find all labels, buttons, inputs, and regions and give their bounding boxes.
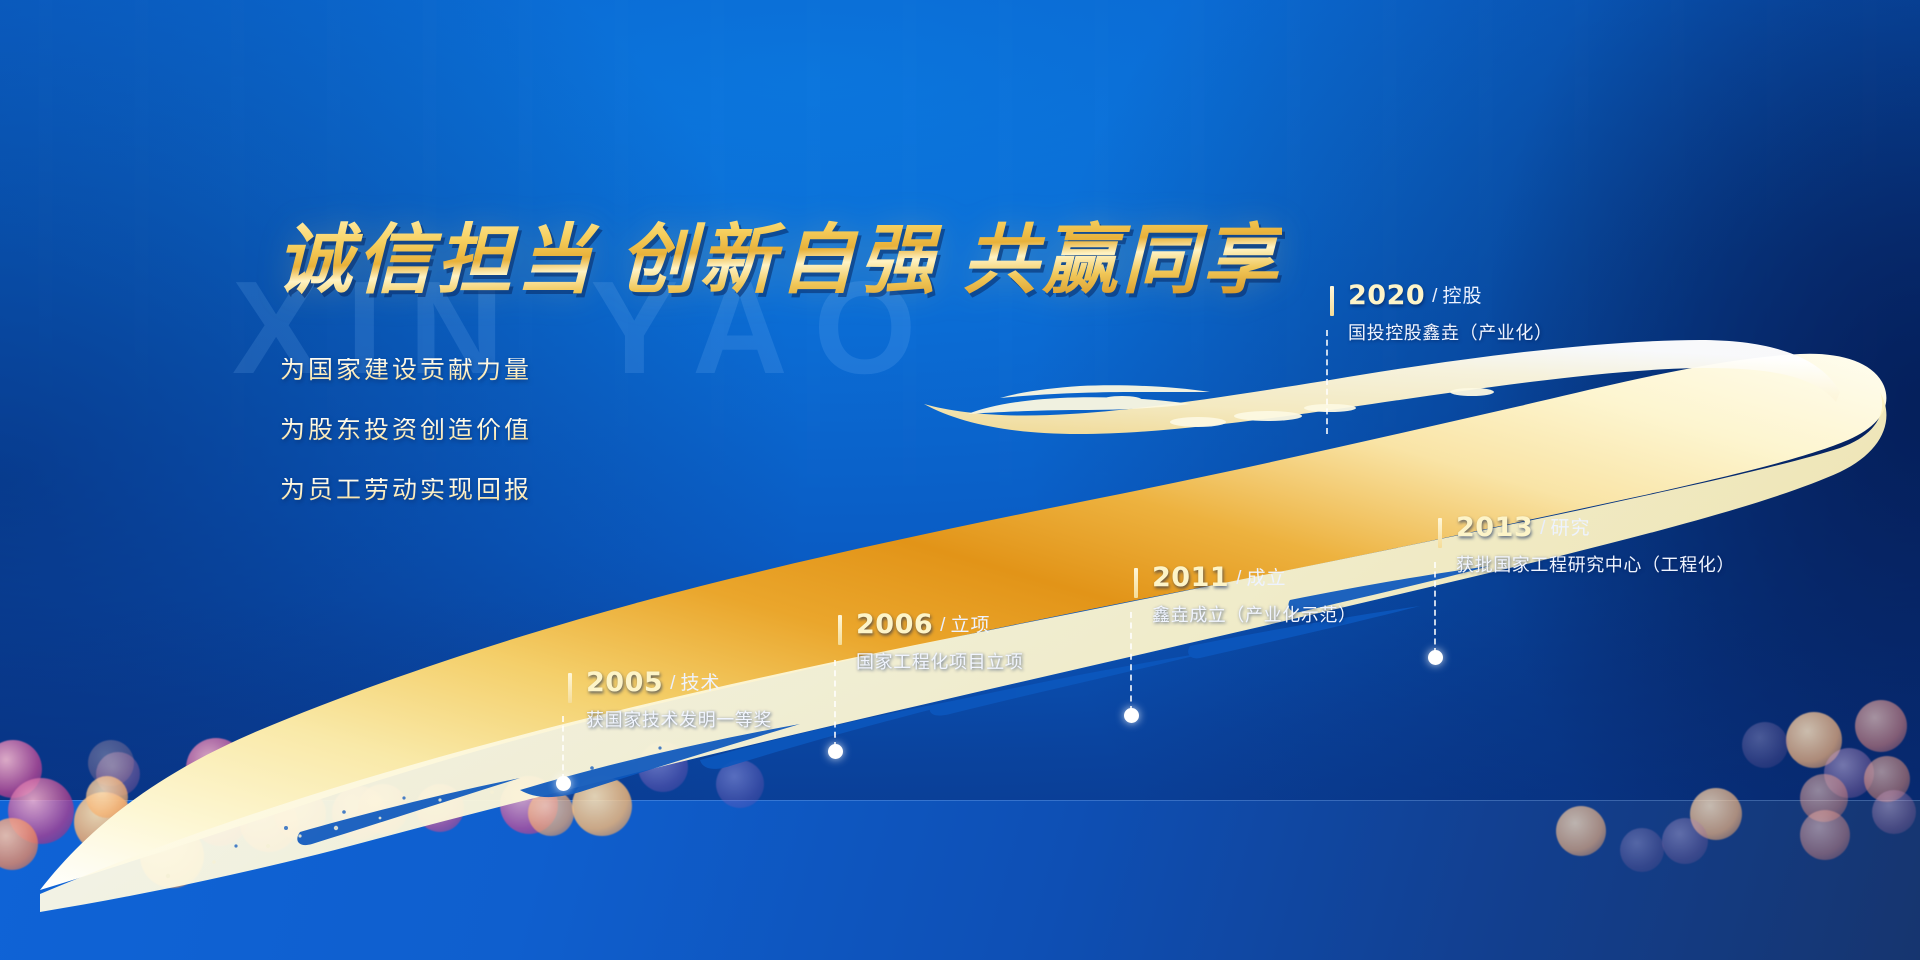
timeline-dot-2005[interactable]	[556, 776, 571, 791]
marker-separator: /	[670, 673, 675, 694]
marker-year: 2020	[1348, 280, 1425, 311]
timeline-dot-2011[interactable]	[1124, 708, 1139, 723]
marker-bar-icon	[568, 673, 572, 703]
leader-line-2013	[1434, 562, 1436, 654]
marker-description: 国投控股鑫垚（产业化）	[1348, 319, 1553, 345]
marker-bar-icon	[838, 615, 842, 645]
marker-year: 2005	[586, 667, 663, 698]
page-title: 诚信担当 创新自强 共赢同享	[276, 198, 1282, 308]
marker-year: 2013	[1456, 512, 1533, 543]
marker-separator: /	[940, 615, 945, 636]
slogan-item: 为国家建设贡献力量	[280, 358, 532, 383]
marker-heading: 2006/立项	[856, 611, 990, 638]
marker-category: 研究	[1550, 518, 1590, 539]
marker-bar-icon	[1438, 518, 1442, 548]
leader-line-2005	[562, 716, 564, 780]
marker-bar-icon	[1330, 286, 1334, 316]
marker-separator: /	[1236, 568, 1241, 589]
marker-heading: 2005/技术	[586, 669, 720, 696]
marker-separator: /	[1540, 518, 1545, 539]
timeline-dot-2013[interactable]	[1428, 650, 1443, 665]
leader-line-2006	[834, 660, 836, 748]
marker-separator: /	[1432, 286, 1437, 307]
marker-category: 控股	[1442, 286, 1482, 307]
marker-category: 立项	[950, 615, 990, 636]
leader-line-2020	[1326, 330, 1328, 434]
leader-line-2011	[1130, 612, 1132, 712]
slogan-item: 为员工劳动实现回报	[280, 478, 532, 503]
timeline-dot-2006[interactable]	[828, 744, 843, 759]
marker-bar-icon	[1134, 568, 1138, 598]
marker-heading: 2013/研究	[1456, 514, 1590, 541]
slogan-list: 为国家建设贡献力量 为股东投资创造价值 为员工劳动实现回报	[280, 358, 532, 538]
marker-description: 获批国家工程研究中心（工程化）	[1456, 551, 1735, 577]
marker-year: 2011	[1152, 562, 1229, 593]
marker-category: 技术	[680, 673, 720, 694]
poster-canvas: XIN YAO 诚信担当 创新自强 共赢同享 为国家建设贡献力量 为股东投资创造…	[0, 0, 1920, 960]
marker-category: 成立	[1246, 568, 1286, 589]
marker-year: 2006	[856, 609, 933, 640]
marker-description: 鑫垚成立（产业化示范）	[1152, 601, 1357, 627]
marker-heading: 2020/控股	[1348, 282, 1482, 309]
marker-heading: 2011/成立	[1152, 564, 1286, 591]
slogan-item: 为股东投资创造价值	[280, 418, 532, 443]
marker-description: 国家工程化项目立项	[856, 648, 1023, 674]
marker-description: 获国家技术发明一等奖	[586, 706, 772, 732]
